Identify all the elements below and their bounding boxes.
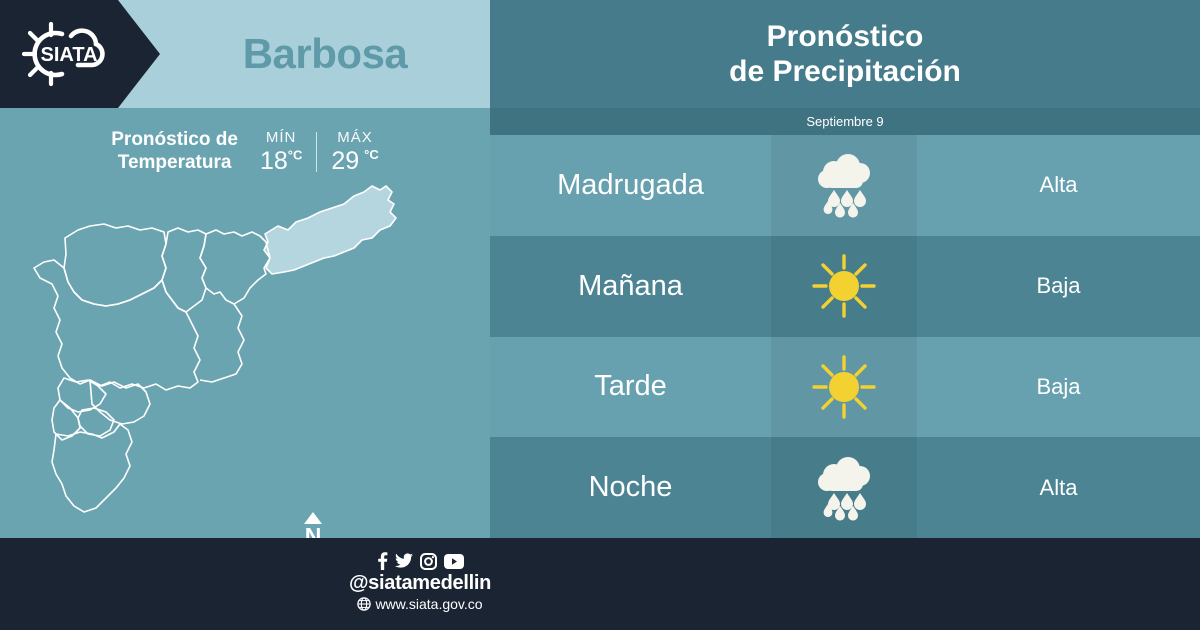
weather-icon-cell: [771, 437, 917, 538]
period-label: Madrugada: [490, 135, 771, 236]
temperature-min-label: MÍN: [260, 129, 302, 146]
forecast-row-noche[interactable]: Noche: [490, 437, 1200, 538]
rain-cloud-icon: [807, 455, 881, 521]
website-url: www.siata.gov.co: [375, 596, 482, 612]
temperature-min: MÍN 18°C: [260, 129, 302, 176]
footer-social-block: @siatamedellin www.siata.gov.co: [330, 552, 510, 612]
rain-cloud-icon: [807, 152, 881, 218]
city-title: Barbosa: [160, 0, 490, 108]
probability-label: Alta: [917, 135, 1200, 236]
map-region-bello[interactable]: [64, 224, 166, 306]
period-label: Noche: [490, 437, 771, 538]
instagram-icon[interactable]: [420, 553, 437, 570]
globe-icon: [357, 597, 371, 611]
temperature-divider: [316, 132, 317, 172]
sun-icon: [808, 351, 880, 423]
sun-icon: [808, 250, 880, 322]
map-region-copacabana[interactable]: [162, 228, 206, 312]
youtube-icon[interactable]: [444, 554, 464, 569]
map-region-barbosa[interactable]: [264, 186, 396, 274]
forecast-title-line2: de Precipitación: [729, 54, 961, 89]
left-panel: SIATA Barbosa Pronóstico de Temperatura …: [0, 0, 490, 538]
forecast-row-tarde[interactable]: Tarde: [490, 337, 1200, 438]
twitter-icon[interactable]: [395, 553, 413, 569]
temperature-values: MÍN 18°C MÁX 29°C: [260, 129, 379, 176]
weather-icon-cell: [771, 337, 917, 438]
temperature-title: Pronóstico de Temperatura: [111, 129, 238, 175]
temperature-max-value: 29: [331, 147, 359, 175]
map-svg: [20, 182, 440, 532]
period-label: Mañana: [490, 236, 771, 337]
probability-label: Baja: [917, 236, 1200, 337]
facebook-icon[interactable]: [377, 552, 388, 570]
aburra-valley-map: N: [20, 182, 440, 532]
weather-icon-cell: [771, 236, 917, 337]
temperature-title-line2: Temperatura: [111, 152, 238, 175]
forecast-row-manana[interactable]: Mañana: [490, 236, 1200, 337]
website-row[interactable]: www.siata.gov.co: [330, 596, 510, 612]
forecast-date-bar: Septiembre 9: [490, 108, 1200, 135]
temperature-min-value-wrap: 18°C: [260, 147, 302, 176]
period-label: Tarde: [490, 337, 771, 438]
social-handle[interactable]: @siatamedellin: [330, 572, 510, 595]
map-region-girardota[interactable]: [200, 230, 270, 304]
probability-label: Baja: [917, 337, 1200, 438]
right-panel: Pronóstico de Precipitación Septiembre 9…: [490, 0, 1200, 538]
social-icons: [330, 552, 510, 570]
sun-cloud-icon: SIATA: [14, 16, 118, 92]
temperature-title-line1: Pronóstico de: [111, 129, 238, 152]
logo-wordmark: SIATA: [40, 44, 97, 66]
forecast-header: Pronóstico de Precipitación: [490, 0, 1200, 108]
map-inner-line-a: [200, 304, 244, 382]
temperature-min-unit: °C: [288, 147, 303, 162]
forecast-title-line1: Pronóstico: [729, 19, 961, 54]
forecast-row-madrugada[interactable]: Madrugada: [490, 135, 1200, 236]
temperature-block: Pronóstico de Temperatura MÍN 18°C MÁX 2…: [0, 116, 490, 188]
map-region-caldas[interactable]: [52, 424, 132, 512]
forecast-date: Septiembre 9: [806, 114, 883, 129]
temperature-max-label: MÁX: [331, 129, 378, 146]
temperature-max-value-wrap: 29°C: [331, 147, 378, 176]
infographic-root: SIATA Barbosa Pronóstico de Temperatura …: [0, 0, 1200, 630]
map-region-medellin[interactable]: [34, 260, 200, 390]
footer: @siatamedellin www.siata.gov.co Con el a…: [0, 538, 1200, 630]
forecast-rows: Madrugada: [490, 135, 1200, 538]
probability-label: Alta: [917, 437, 1200, 538]
temperature-max-unit: °C: [364, 147, 379, 162]
temperature-min-value: 18: [260, 147, 288, 175]
weather-icon-cell: [771, 135, 917, 236]
forecast-title: Pronóstico de Precipitación: [729, 19, 961, 90]
temperature-max: MÁX 29°C: [331, 129, 378, 176]
